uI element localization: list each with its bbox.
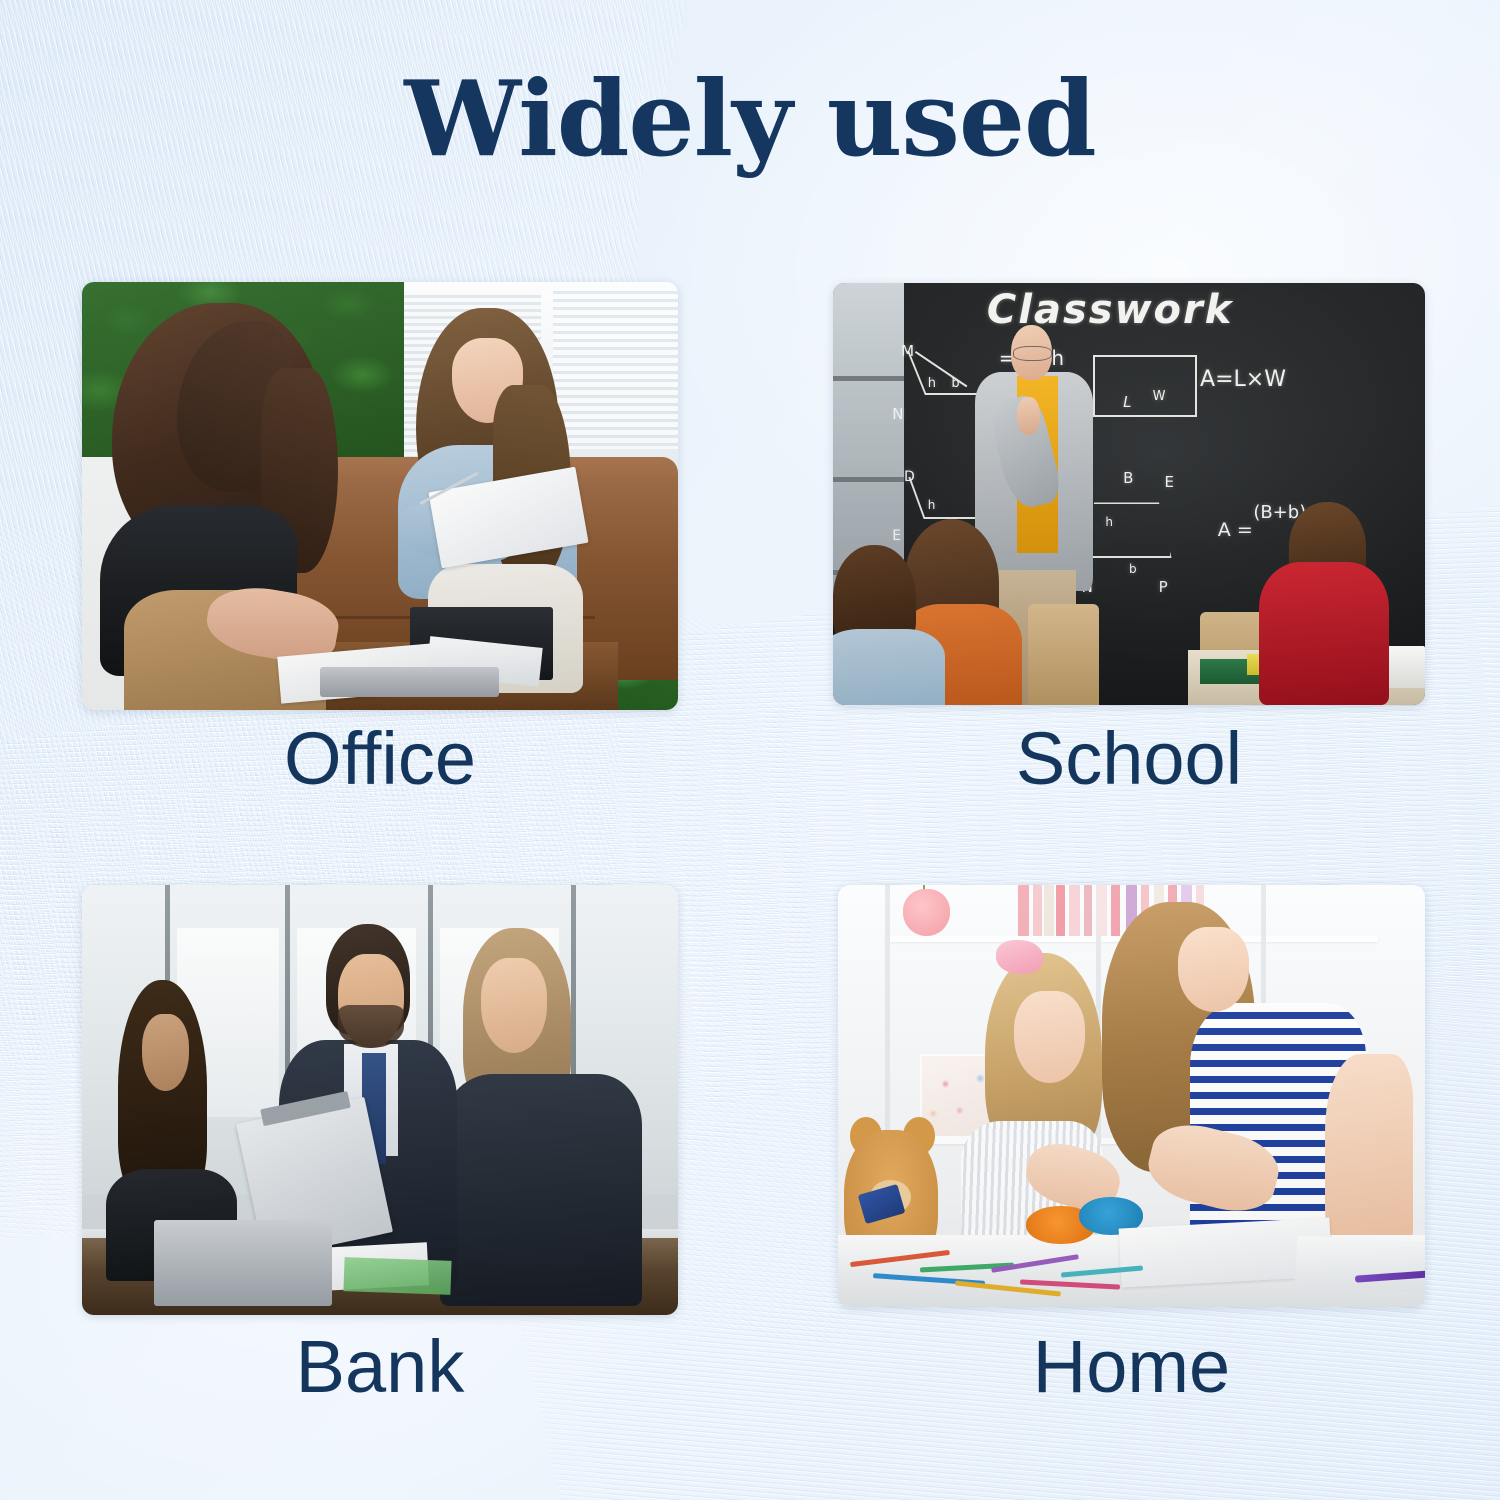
- bank-person-right-face: [481, 958, 547, 1053]
- poster-root: Widely used: [0, 0, 1500, 1500]
- blackboard-label-d: D: [904, 469, 915, 485]
- blackboard-label-m: M: [901, 342, 914, 360]
- home-girl-hair-bow: [996, 940, 1043, 974]
- home-book: [1069, 885, 1080, 936]
- office-photo: [82, 282, 678, 710]
- home-photo: [838, 885, 1425, 1307]
- image-card-office: [82, 282, 678, 710]
- image-card-bank: [82, 885, 678, 1315]
- home-workbook: [1295, 1236, 1425, 1294]
- school-student-shirt: [833, 629, 945, 705]
- blackboard-label-e2: E: [1165, 473, 1174, 491]
- home-mother-face: [1178, 927, 1248, 1011]
- image-card-school: Classwork M h b N = b×h 2 L W A=L×W D h …: [833, 283, 1425, 705]
- caption-bank: Bank: [82, 1330, 678, 1404]
- page-title: Widely used: [0, 62, 1500, 176]
- office-window-blinds: [553, 286, 678, 449]
- home-book: [1111, 885, 1119, 936]
- caption-home: Home: [838, 1330, 1425, 1404]
- home-book: [1084, 885, 1092, 936]
- image-card-home: [838, 885, 1425, 1307]
- school-shelf-bar: [833, 477, 904, 482]
- home-shelf-upright: [885, 885, 890, 1147]
- blackboard-label-b2: B: [1123, 469, 1133, 487]
- bank-person-left-face: [142, 1014, 190, 1091]
- bank-person-right-blazer: [440, 1074, 643, 1306]
- office-laptop-keyboard: [320, 667, 499, 697]
- school-teacher-glasses: [1013, 346, 1052, 361]
- blackboard-trapezoid: [1082, 502, 1172, 558]
- bank-laptop: [154, 1220, 333, 1306]
- caption-school: School: [833, 722, 1425, 796]
- blackboard-label-h: h: [928, 376, 936, 391]
- home-book: [1044, 885, 1055, 936]
- home-apple-decor-icon: [903, 889, 950, 935]
- home-girl-face: [1014, 991, 1084, 1084]
- blackboard-label-b: b: [951, 376, 959, 391]
- school-shelf-bar: [833, 376, 904, 381]
- blackboard-label-h2: h: [928, 498, 936, 512]
- blackboard-formula-rect: A=L×W: [1200, 367, 1286, 392]
- blackboard-label-h3: h: [1105, 515, 1113, 529]
- blackboard-label-b3: b: [1129, 562, 1137, 576]
- home-book: [1033, 885, 1041, 936]
- home-book: [1097, 885, 1108, 936]
- bank-documents-green: [344, 1257, 452, 1295]
- blackboard-rectangle: [1093, 355, 1197, 417]
- blackboard-label-w: W: [1153, 389, 1166, 404]
- caption-office: Office: [82, 722, 678, 796]
- blackboard-label-e: E: [892, 528, 901, 544]
- blackboard-label-p: P: [1159, 578, 1168, 596]
- home-book: [1018, 885, 1029, 936]
- blackboard-label-l: L: [1123, 393, 1131, 411]
- school-chair: [1028, 604, 1099, 705]
- bank-photo: [82, 885, 678, 1315]
- school-photo: Classwork M h b N = b×h 2 L W A=L×W D h …: [833, 283, 1425, 705]
- blackboard-label-n: N: [892, 405, 903, 423]
- school-student-hoodie: [1259, 562, 1389, 705]
- school-teacher-hand: [1017, 397, 1041, 435]
- home-book: [1056, 885, 1064, 936]
- blackboard-formula-trap-pre: A =: [1218, 519, 1253, 541]
- home-mother-arm: [1325, 1054, 1413, 1248]
